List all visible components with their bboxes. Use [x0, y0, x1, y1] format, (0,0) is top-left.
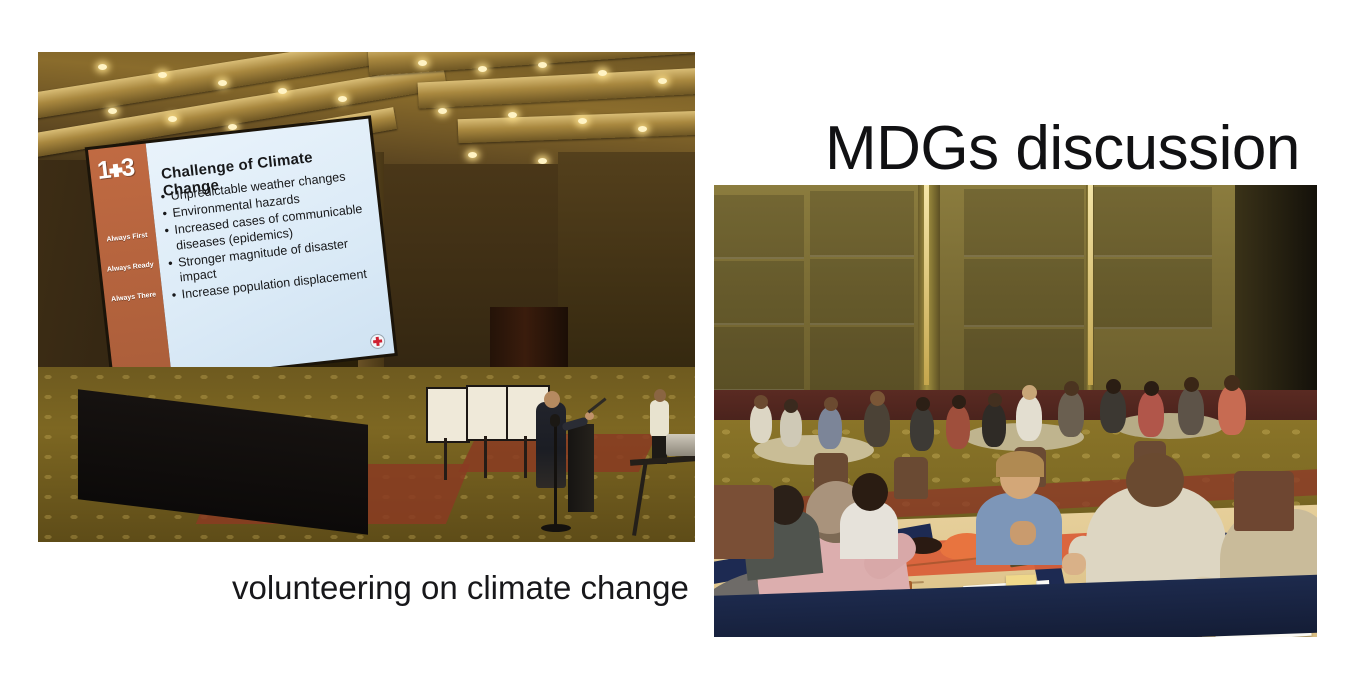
projection-screen: 13 Always First Always Ready Always Ther…: [88, 119, 395, 385]
pillar: [918, 185, 940, 403]
ceiling-light: [638, 126, 647, 132]
distant-person: [864, 401, 890, 447]
chair: [1234, 471, 1294, 531]
wall-panel: [810, 191, 914, 257]
ceiling-light: [98, 64, 107, 70]
pillar-light-strip: [924, 185, 929, 385]
distant-person: [1100, 389, 1126, 433]
distant-person-head: [754, 395, 768, 409]
ceiling-light: [228, 124, 237, 130]
ceiling-light: [338, 96, 347, 102]
speaker-head: [544, 391, 560, 408]
distant-person-head: [1022, 385, 1037, 400]
presentation-slide: 13 Always First Always Ready Always Ther…: [0, 0, 1362, 681]
microphone-base: [541, 524, 571, 532]
distant-person: [910, 407, 934, 451]
flip-chart: [466, 385, 510, 441]
ceiling-light: [468, 152, 477, 158]
ceiling-light: [108, 108, 117, 114]
ceiling-light: [168, 116, 177, 122]
wall-right: [558, 152, 695, 382]
microphone-stand: [554, 420, 557, 528]
red-cross-emblem-icon: [369, 333, 386, 350]
distant-person: [1058, 391, 1084, 437]
ceiling-light: [508, 112, 517, 118]
ceiling-light: [438, 108, 447, 114]
ceiling-band: [458, 109, 695, 143]
ceiling-light: [658, 78, 667, 84]
ceiling-light: [578, 118, 587, 124]
staff-member-body: [650, 400, 669, 438]
wall-panel: [810, 259, 914, 325]
wall-panel: [964, 259, 1084, 327]
back-wall: [714, 185, 1317, 403]
photo-caption: volunteering on climate change: [232, 569, 689, 607]
distant-person: [1218, 385, 1246, 435]
ceiling-light: [478, 66, 487, 72]
distant-table: [1114, 413, 1224, 439]
distant-person-head: [988, 393, 1002, 407]
tagline-always-ready: Always Ready: [101, 261, 160, 276]
mdgs-discussion-photo: [714, 185, 1317, 637]
distant-person-head: [916, 397, 930, 411]
clasped-hands: [1010, 521, 1036, 545]
woman-in-cream-top-hand: [1062, 553, 1086, 575]
distant-person-head: [1184, 377, 1199, 392]
distant-person-head: [824, 397, 838, 411]
dark-corner: [1235, 185, 1317, 410]
flip-chart-leg: [484, 436, 487, 478]
distant-person-head: [952, 395, 966, 409]
tagline-always-first: Always First: [98, 231, 157, 246]
wall-panel: [714, 261, 804, 325]
distant-person-head: [1106, 379, 1121, 394]
distant-person: [818, 407, 842, 449]
ceiling-light: [158, 72, 167, 78]
distant-person-head: [870, 391, 885, 406]
distant-person: [1178, 387, 1204, 435]
wall-panel: [810, 327, 914, 393]
distant-person-head: [1224, 375, 1240, 391]
distant-person: [780, 407, 802, 447]
ceiling-light: [418, 60, 427, 66]
wall-panel: [964, 189, 1084, 257]
wall-panel: [714, 195, 804, 259]
volunteering-on-climate-change-photo: 13 Always First Always Ready Always Ther…: [38, 52, 695, 542]
ceiling-light: [538, 62, 547, 68]
flip-chart-leg: [444, 438, 447, 480]
staff-member-head: [654, 389, 666, 402]
ceiling-band: [418, 65, 695, 108]
page-title: MDGs discussion: [825, 117, 1300, 181]
cross-icon: [109, 163, 123, 177]
logo-143: 13: [96, 151, 143, 186]
wall-panel: [1092, 187, 1212, 257]
slide-bullet-list: Unpredictable weather changes Environmen…: [159, 167, 383, 306]
tagline-always-there: Always There: [104, 291, 163, 306]
distant-person: [750, 403, 772, 443]
ceiling-light: [218, 80, 227, 86]
chair: [714, 485, 774, 559]
flip-chart: [426, 387, 470, 443]
distant-person: [946, 405, 970, 449]
ceiling-light: [278, 88, 287, 94]
distant-person-head: [784, 399, 798, 413]
woman-in-cream-top-head: [1126, 453, 1184, 507]
projector: [666, 434, 695, 456]
ceiling-light: [598, 70, 607, 76]
distant-person: [982, 403, 1006, 447]
distant-person: [1016, 395, 1042, 441]
chair: [894, 457, 928, 499]
slide-board: Challenge of Climate Change Unpredictabl…: [146, 119, 395, 378]
distant-person-head: [1064, 381, 1079, 396]
distant-person-head: [1144, 381, 1159, 396]
podium: [568, 424, 594, 512]
distant-person: [1138, 391, 1164, 437]
woman-in-white-head: [852, 473, 888, 511]
man-in-blue-striped-shirt-hair: [996, 451, 1044, 477]
wall-panel: [1092, 259, 1212, 329]
microphone-head: [550, 414, 560, 427]
wall-panel: [714, 327, 804, 391]
flip-chart-leg: [524, 436, 527, 478]
pillar-light-strip: [1088, 185, 1093, 385]
